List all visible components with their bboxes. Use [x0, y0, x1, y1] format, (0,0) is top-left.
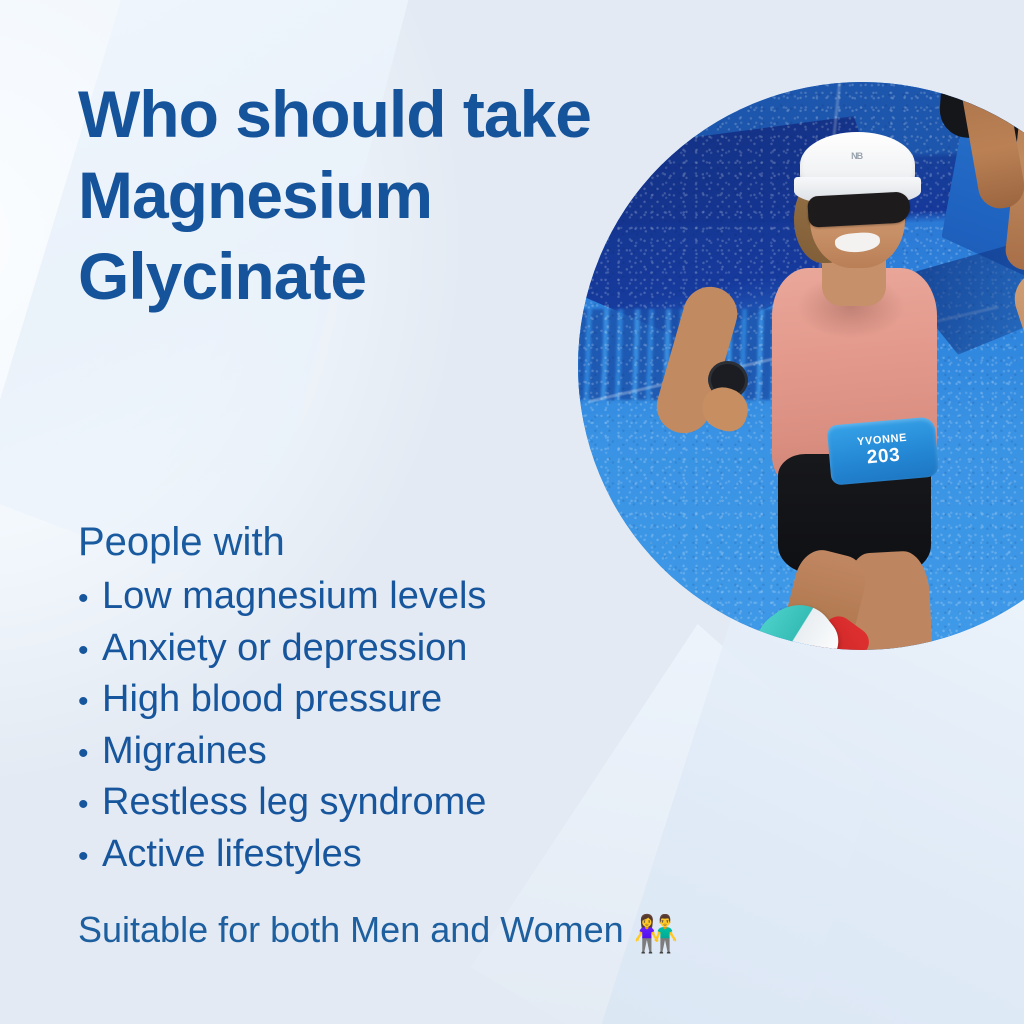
runner-figure: NB YVONNE 203	[714, 105, 1024, 650]
photo-inner: #SOAC4 NB	[578, 82, 1024, 650]
bullet-dot-icon: •	[78, 730, 88, 779]
bullet-dot-icon: •	[78, 781, 88, 830]
footnote-label: Suitable for both Men and Women	[78, 909, 634, 950]
text-column: Who should take Magnesium Glycinate Peop…	[78, 0, 638, 1024]
list-item-label: Low magnesium levels	[102, 572, 486, 621]
list-item: • Migraines	[78, 727, 486, 779]
list-item: • Active lifestyles	[78, 830, 486, 882]
runner-sunglasses	[807, 191, 910, 227]
list-item-label: Migraines	[102, 727, 267, 776]
runner-right-arm	[1007, 263, 1024, 441]
list-item-label: Restless leg syndrome	[102, 778, 486, 827]
list-item: • High blood pressure	[78, 675, 486, 727]
cap-brand-logo: NB	[851, 151, 869, 161]
poster-canvas: #SOAC4 NB	[0, 0, 1024, 1024]
list-item-label: Active lifestyles	[102, 830, 362, 879]
list-item-label: High blood pressure	[102, 675, 442, 724]
bullet-dot-icon: •	[78, 627, 88, 676]
list-item: • Low magnesium levels	[78, 572, 486, 624]
race-bib-number: 203	[866, 446, 901, 468]
list-item: • Restless leg syndrome	[78, 778, 486, 830]
bullet-dot-icon: •	[78, 833, 88, 882]
list-intro-label: People with	[78, 518, 285, 566]
audience-list: • Low magnesium levels • Anxiety or depr…	[78, 572, 486, 881]
man-woman-holding-hands-icon: 👫	[634, 913, 679, 954]
footnote: Suitable for both Men and Women 👫	[78, 908, 679, 956]
bullet-dot-icon: •	[78, 678, 88, 727]
list-item-label: Anxiety or depression	[102, 624, 467, 673]
page-title: Who should take Magnesium Glycinate	[78, 74, 598, 317]
runner-photo: #SOAC4 NB	[578, 82, 1024, 650]
race-bib: YVONNE 203	[826, 416, 939, 485]
list-item: • Anxiety or depression	[78, 624, 486, 676]
bullet-dot-icon: •	[78, 575, 88, 624]
